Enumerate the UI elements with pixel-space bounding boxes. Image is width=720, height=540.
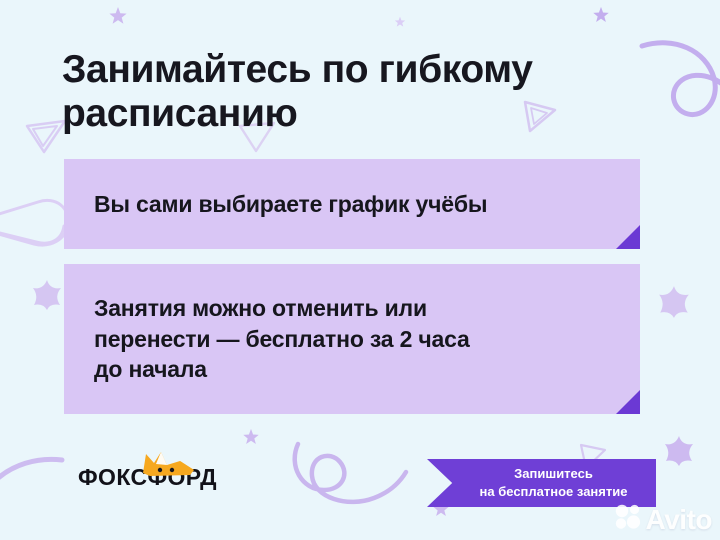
promo-slide: Занимайтесь по гибкому расписанию Вы сам… [0, 0, 720, 540]
star-tiny-title-icon [394, 16, 406, 28]
feature-line: Вы сами выбираете график учёбы [94, 189, 487, 220]
page-title-line-1: Занимайтесь по гибкому [62, 48, 662, 92]
feature-box-text: Занятия можно отменить или перенести — б… [94, 293, 470, 385]
cta-line-2: на бесплатное занятие [480, 483, 628, 501]
signup-cta-ribbon[interactable]: Запишитесь на бесплатное занятие [427, 459, 656, 507]
star-right-middle-icon [656, 284, 692, 320]
page-title-line-2: расписанию [62, 92, 662, 136]
corner-fold-accent [616, 390, 640, 414]
star-left-middle-icon [30, 278, 64, 312]
swirl-bottom-center-icon [290, 432, 420, 512]
star-small-top-right-icon [592, 6, 610, 24]
feature-line: Занятия можно отменить или [94, 293, 470, 324]
feature-line: перенести — бесплатно за 2 часа [94, 324, 470, 355]
paperclip-left-icon [0, 196, 74, 270]
avito-dots-icon [614, 503, 642, 536]
foxford-logo[interactable]: ФОКСФОРД [78, 466, 217, 489]
star-bottom-center-icon [242, 428, 260, 446]
star-bottom-right-icon [662, 434, 696, 468]
feature-box-cancel-reschedule: Занятия можно отменить или перенести — б… [64, 264, 640, 414]
feature-box-text: Вы сами выбираете график учёбы [94, 189, 487, 220]
page-title: Занимайтесь по гибкому расписанию [62, 48, 662, 136]
arc-bottom-left-icon [0, 452, 86, 540]
avito-watermark: Avito [614, 503, 712, 536]
fox-icon [140, 451, 196, 482]
avito-wordmark: Avito [646, 506, 712, 534]
feature-box-schedule-choice: Вы сами выбираете график учёбы [64, 159, 640, 249]
cta-line-1: Запишитесь [514, 465, 593, 483]
star-small-top-left-icon [108, 6, 128, 26]
corner-fold-accent [616, 225, 640, 249]
feature-line: до начала [94, 354, 470, 385]
